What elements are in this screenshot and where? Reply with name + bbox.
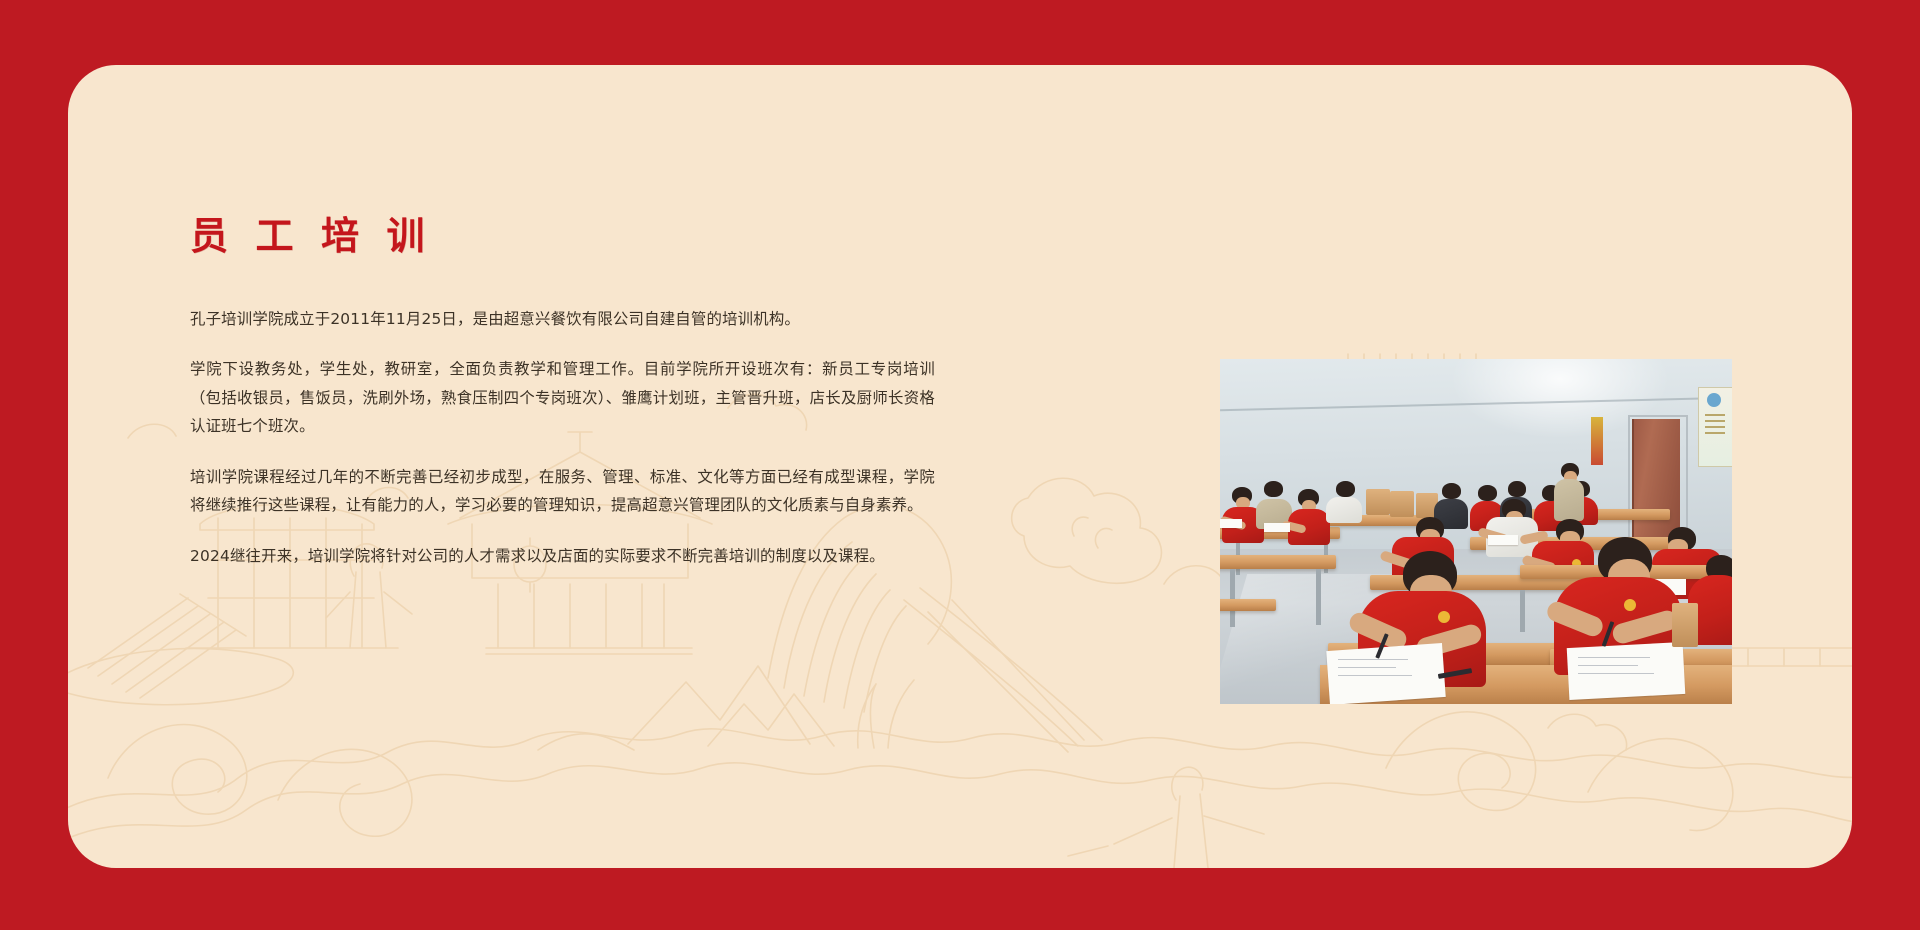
slide-root: 员 工 培 训 孔子培训学院成立于2011年11月25日，是由超意兴餐饮有限公司… [0,0,1920,930]
desk-leg [1520,590,1525,632]
chair [1672,603,1698,647]
paragraph-4: 2024继往开来，培训学院将针对公司的人才需求以及店面的实际要求不断完善培训的制… [190,542,935,571]
desk-leg [1316,569,1321,625]
wall-banner [1591,417,1603,465]
desk-leg [1230,569,1235,627]
page-title: 员 工 培 训 [190,215,935,261]
paragraph-2: 学院下设教务处，学生处，教研室，全面负责教学和管理工作。目前学院所开设班次有：新… [190,355,935,441]
text-column: 员 工 培 训 孔子培训学院成立于2011年11月25日，是由超意兴餐饮有限公司… [190,215,935,570]
content-card: 员 工 培 训 孔子培训学院成立于2011年11月25日，是由超意兴餐饮有限公司… [68,65,1852,868]
poster-graphic [1707,393,1721,407]
classroom-door [1632,419,1680,539]
desk-left [1220,555,1336,569]
exam-paper-front-left [1326,643,1445,704]
paragraph-3: 培训学院课程经过几年的不断完善已经初步成型，在服务、管理、标准、文化等方面已经有… [190,463,935,520]
exam-paper [1220,519,1242,528]
poster-text-lines [1705,414,1725,416]
exam-paper-front-right [1567,642,1686,700]
exam-paper [1264,523,1290,532]
paragraph-1: 孔子培训学院成立于2011年11月25日，是由超意兴餐饮有限公司自建自管的培训机… [190,305,935,334]
desk-left-low [1220,599,1276,611]
chair [1390,491,1414,517]
exam-paper [1488,535,1518,545]
chair [1366,489,1390,515]
training-photo [1220,359,1732,704]
classroom-scene [1220,359,1732,704]
